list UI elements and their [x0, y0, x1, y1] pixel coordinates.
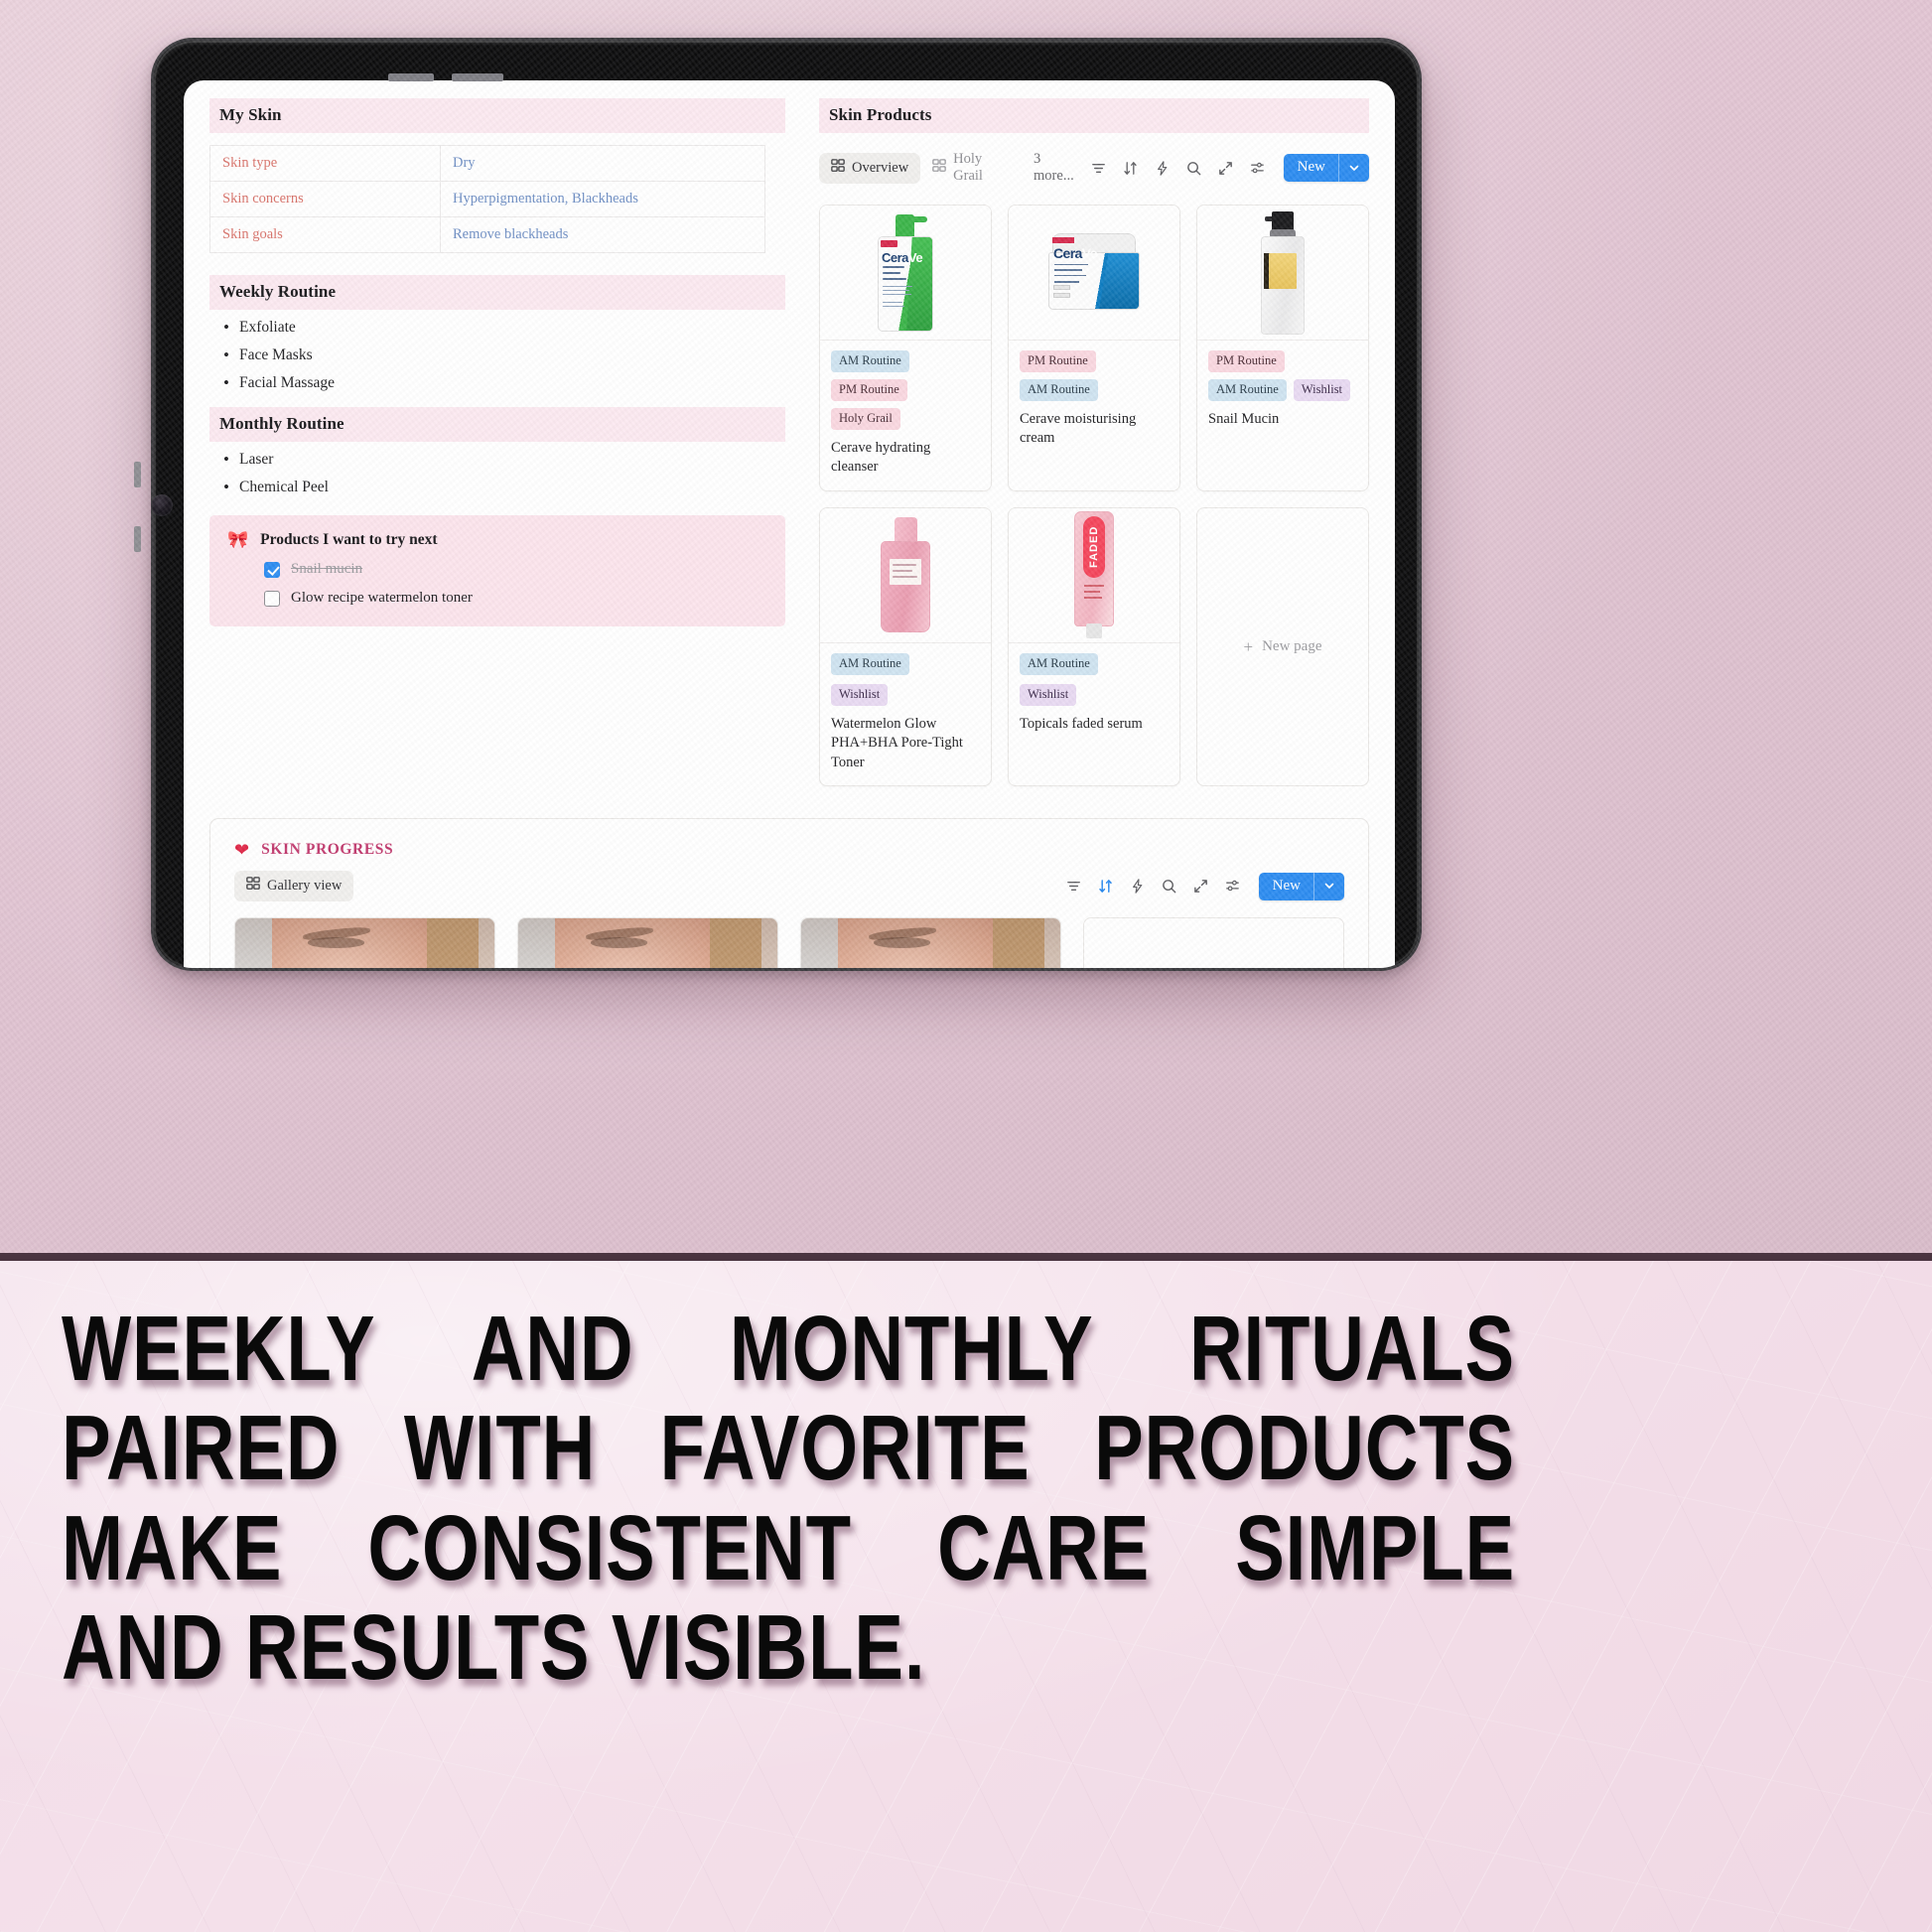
new-page-tile[interactable]: + New page — [1083, 917, 1344, 971]
new-button-label: New — [1259, 873, 1313, 900]
snail-mucin-bottle-art — [1261, 211, 1305, 335]
product-title: Watermelon Glow PHA+BHA Pore-Tight Toner — [831, 715, 980, 773]
table-row: Skin concerns Hyperpigmentation, Blackhe… — [210, 181, 764, 216]
tag: Wishlist — [1294, 379, 1350, 401]
product-body: AM Routine Wishlist Topicals faded serum — [1009, 643, 1179, 747]
skin-products-toolbar: Overview Holy Grail 3 more... — [819, 145, 1369, 191]
notion-page: My Skin Skin type Dry Skin concerns Hype… — [184, 80, 1395, 971]
weekly-routine-list: Exfoliate Face Masks Facial Massage — [209, 314, 785, 397]
product-card[interactable]: AM Routine Wishlist Watermelon Glow PHA+… — [819, 507, 992, 786]
caption-line-1: WEEKLYANDMONTHLYRITUALS — [62, 1299, 1515, 1398]
caption-line-4: AND RESULTS VISIBLE. — [62, 1597, 1515, 1697]
table-cell-value[interactable]: Remove blackheads — [441, 217, 580, 252]
product-body: PM Routine AM Routine Wishlist Snail Muc… — [1197, 341, 1368, 442]
product-title: Topicals faded serum — [1020, 715, 1169, 735]
more-views-button[interactable]: 3 more... — [1028, 145, 1085, 191]
new-page-tile[interactable]: + New page — [1196, 507, 1369, 786]
page-columns: My Skin Skin type Dry Skin concerns Hype… — [209, 98, 1369, 786]
try-next-callout: 🎀 Products I want to try next Snail muci… — [209, 515, 785, 626]
progress-photo — [801, 918, 1060, 971]
tag: PM Routine — [831, 379, 907, 401]
table-cell-key: Skin type — [210, 146, 441, 181]
list-item: Laser — [209, 446, 785, 474]
my-skin-table: Skin type Dry Skin concerns Hyperpigment… — [209, 145, 765, 253]
tag: AM Routine — [831, 350, 909, 372]
tab-overview[interactable]: Overview — [819, 153, 920, 184]
my-skin-heading: My Skin — [209, 98, 785, 133]
product-body: AM Routine Wishlist Watermelon Glow PHA+… — [820, 643, 991, 785]
todo-label: Glow recipe watermelon toner — [291, 590, 473, 607]
todo-item[interactable]: Glow recipe watermelon toner — [264, 590, 767, 607]
tablet-volume-button — [134, 526, 141, 552]
product-card[interactable]: FADED AM Routine — [1008, 507, 1180, 786]
checkbox-unchecked[interactable] — [264, 591, 280, 607]
product-image: FADED — [1009, 508, 1179, 643]
search-icon[interactable] — [1156, 873, 1183, 900]
product-body: PM Routine AM Routine Cerave moisturisin… — [1009, 341, 1179, 462]
tablet-scene: My Skin Skin type Dry Skin concerns Hype… — [0, 0, 1932, 1259]
tablet-device: My Skin Skin type Dry Skin concerns Hype… — [151, 38, 1422, 971]
new-button[interactable]: New — [1284, 154, 1369, 182]
tablet-screen: My Skin Skin type Dry Skin concerns Hype… — [184, 80, 1395, 971]
monthly-routine-heading: Monthly Routine — [209, 407, 785, 442]
tag: AM Routine — [1020, 379, 1098, 401]
tab-label: Gallery view — [267, 878, 342, 895]
faded-serum-tube-art: FADED — [1074, 511, 1114, 638]
callout-header: 🎀 Products I want to try next — [227, 531, 767, 549]
left-column: My Skin Skin type Dry Skin concerns Hype… — [209, 98, 785, 786]
pink-toner-bottle-art — [881, 517, 930, 632]
product-tags: Wishlist — [831, 684, 980, 706]
heart-icon: ❤ — [234, 841, 249, 859]
tablet-camera-icon — [151, 494, 173, 516]
automation-lightning-icon[interactable] — [1149, 154, 1176, 182]
tag: Wishlist — [831, 684, 888, 706]
toolbar-icons: New — [1085, 154, 1369, 182]
product-title: Cerave hydrating cleanser — [831, 439, 980, 478]
progress-card[interactable]: January 5, 2024 — [234, 917, 495, 971]
progress-photo — [518, 918, 777, 971]
monthly-routine-list: Laser Chemical Peel — [209, 446, 785, 501]
list-item: Face Masks — [209, 342, 785, 369]
automation-lightning-icon[interactable] — [1124, 873, 1152, 900]
tag: AM Routine — [831, 653, 909, 675]
tablet-top-button — [452, 73, 503, 81]
toolbar-icons: New — [1060, 873, 1344, 900]
tab-label: Overview — [852, 160, 908, 177]
display-settings-icon[interactable] — [1244, 154, 1272, 182]
chevron-down-icon[interactable] — [1314, 875, 1344, 897]
gallery-grid-icon — [831, 159, 845, 178]
product-card[interactable]: CeraVe — [1008, 205, 1180, 491]
new-button-label: New — [1284, 154, 1338, 182]
tag: Wishlist — [1020, 684, 1076, 706]
ribbon-bow-icon: 🎀 — [227, 531, 248, 548]
expand-icon[interactable] — [1187, 873, 1215, 900]
caption-line-3: MAKECONSISTENTCARESIMPLE — [62, 1498, 1515, 1597]
todo-label: Snail mucin — [291, 561, 362, 578]
product-tags: AM Routine PM Routine Holy Grail — [831, 350, 980, 430]
skin-products-heading: Skin Products — [819, 98, 1369, 133]
product-title: Cerave moisturising cream — [1020, 410, 1169, 449]
tablet-top-button — [388, 73, 434, 81]
tab-label: Holy Grail — [953, 151, 1006, 185]
plus-icon: + — [1244, 638, 1254, 655]
list-item: Exfoliate — [209, 314, 785, 342]
skin-products-grid: CeraVe — [819, 205, 1369, 786]
product-tags: AM Routine — [831, 653, 980, 675]
sort-icon[interactable] — [1117, 154, 1145, 182]
product-image: CeraVe — [1009, 206, 1179, 341]
product-image — [1197, 206, 1368, 341]
skin-progress-block: ❤ SKIN PROGRESS Gallery view — [209, 818, 1369, 971]
tag: Holy Grail — [831, 408, 900, 430]
tag: AM Routine — [1020, 653, 1098, 675]
list-item: Facial Massage — [209, 369, 785, 397]
caption-text: WEEKLYANDMONTHLYRITUALS PAIREDWITHFAVORI… — [62, 1299, 1515, 1698]
table-row: Skin type Dry — [210, 145, 764, 181]
caption-panel: WEEKLYANDMONTHLYRITUALS PAIREDWITHFAVORI… — [0, 1261, 1932, 1932]
todo-item[interactable]: Snail mucin — [264, 561, 767, 578]
section-divider — [0, 1253, 1932, 1261]
tag: PM Routine — [1208, 350, 1285, 372]
table-row: Skin goals Remove blackheads — [210, 216, 764, 252]
list-item: Chemical Peel — [209, 474, 785, 501]
table-cell-value[interactable]: Hyperpigmentation, Blackheads — [441, 182, 650, 216]
cerave-jar-art: CeraVe — [1048, 233, 1140, 313]
gallery-grid-icon — [246, 877, 260, 896]
product-title: Snail Mucin — [1208, 410, 1357, 430]
product-tags: PM Routine AM Routine — [1020, 350, 1169, 401]
table-cell-key: Skin concerns — [210, 182, 441, 216]
tab-holy-grail[interactable]: Holy Grail — [920, 145, 1018, 191]
product-card[interactable]: PM Routine AM Routine Wishlist Snail Muc… — [1196, 205, 1369, 491]
tablet-volume-button — [134, 462, 141, 487]
weekly-routine-heading: Weekly Routine — [209, 275, 785, 310]
new-page-label: New page — [1262, 638, 1321, 655]
sort-icon[interactable] — [1092, 873, 1120, 900]
skin-progress-gallery: January 5, 2024 January 19, 2024 — [234, 917, 1344, 971]
display-settings-icon[interactable] — [1219, 873, 1247, 900]
progress-card[interactable]: January 19, 2024 — [517, 917, 778, 971]
tab-gallery-view[interactable]: Gallery view — [234, 871, 353, 901]
search-icon[interactable] — [1180, 154, 1208, 182]
tag: AM Routine — [1208, 379, 1287, 401]
right-column: Skin Products Overview — [819, 98, 1369, 786]
table-cell-key: Skin goals — [210, 217, 441, 252]
skin-progress-toolbar: Gallery view — [234, 871, 1344, 901]
tag: PM Routine — [1020, 350, 1096, 372]
chevron-down-icon[interactable] — [1339, 157, 1369, 180]
product-tags: AM Routine — [1020, 653, 1169, 675]
expand-icon[interactable] — [1212, 154, 1240, 182]
product-tags: PM Routine AM Routine Wishlist — [1208, 350, 1357, 401]
product-card[interactable]: CeraVe — [819, 205, 992, 491]
cerave-cleanser-art: CeraVe — [878, 214, 933, 332]
product-tags: Wishlist — [1020, 684, 1169, 706]
callout-title: Products I want to try next — [260, 531, 437, 549]
new-button[interactable]: New — [1259, 873, 1344, 900]
table-cell-value[interactable]: Dry — [441, 146, 487, 181]
filter-icon[interactable] — [1085, 154, 1113, 182]
gallery-grid-icon — [932, 159, 946, 178]
skin-progress-title: SKIN PROGRESS — [261, 841, 393, 859]
filter-icon[interactable] — [1060, 873, 1088, 900]
product-body: AM Routine PM Routine Holy Grail Cerave … — [820, 341, 991, 490]
progress-card[interactable]: September 1, 2025 — [800, 917, 1061, 971]
product-image: CeraVe — [820, 206, 991, 341]
caption-line-2: PAIREDWITHFAVORITEPRODUCTS — [62, 1398, 1515, 1497]
progress-photo — [235, 918, 494, 971]
skin-progress-header: ❤ SKIN PROGRESS — [234, 841, 1344, 859]
product-image — [820, 508, 991, 643]
checkbox-checked[interactable] — [264, 562, 280, 578]
